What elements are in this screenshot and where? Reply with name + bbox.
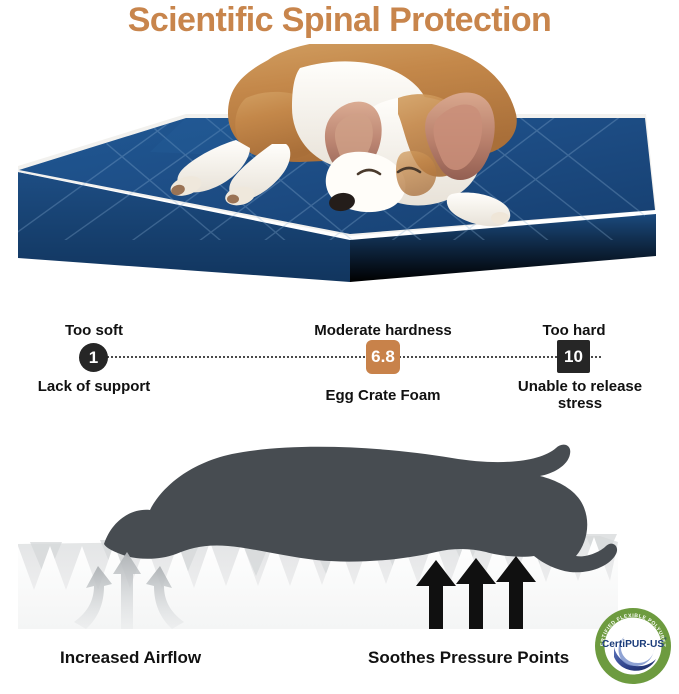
scale-mid-bottom-label: Egg Crate Foam xyxy=(293,387,473,404)
scale-mid-top-label: Moderate hardness xyxy=(293,322,473,339)
badge-trademark: ® xyxy=(664,636,667,641)
certipur-badge-icon: CONTAINS CERTIFIED FLEXIBLE POLYURETHANE… xyxy=(594,607,672,685)
scale-high-top-label: Too hard xyxy=(495,322,653,339)
hero-product-photo xyxy=(0,44,679,300)
airflow-label: Increased Airflow xyxy=(60,648,201,668)
scale-marker-high: 10 xyxy=(557,340,590,373)
scale-high-bottom-label: Unable to release stress xyxy=(497,378,663,412)
dog-toe-pad-3 xyxy=(491,212,509,224)
scale-low-top-label: Too soft xyxy=(14,322,174,339)
scale-marker-low: 1 xyxy=(79,343,108,372)
scale-dotted-line xyxy=(100,356,601,360)
foam-cross-section-diagram xyxy=(0,424,679,629)
scale-marker-mid: 6.8 xyxy=(366,340,400,374)
badge-wordmark: CertiPUR-US xyxy=(602,639,664,650)
dog-on-bed-illustration xyxy=(0,44,679,300)
hardness-scale: Too soft Moderate hardness Too hard 1 6.… xyxy=(0,312,679,422)
page-title: Scientific Spinal Protection xyxy=(0,0,679,42)
certipur-us-badge: CONTAINS CERTIFIED FLEXIBLE POLYURETHANE… xyxy=(594,607,672,685)
dog-toe-pad-2 xyxy=(227,195,239,204)
egg-crate-foam-illustration xyxy=(0,424,679,629)
scale-low-bottom-label: Lack of support xyxy=(4,378,184,395)
pressure-arrows xyxy=(416,556,536,629)
pressure-label: Soothes Pressure Points xyxy=(368,648,569,668)
